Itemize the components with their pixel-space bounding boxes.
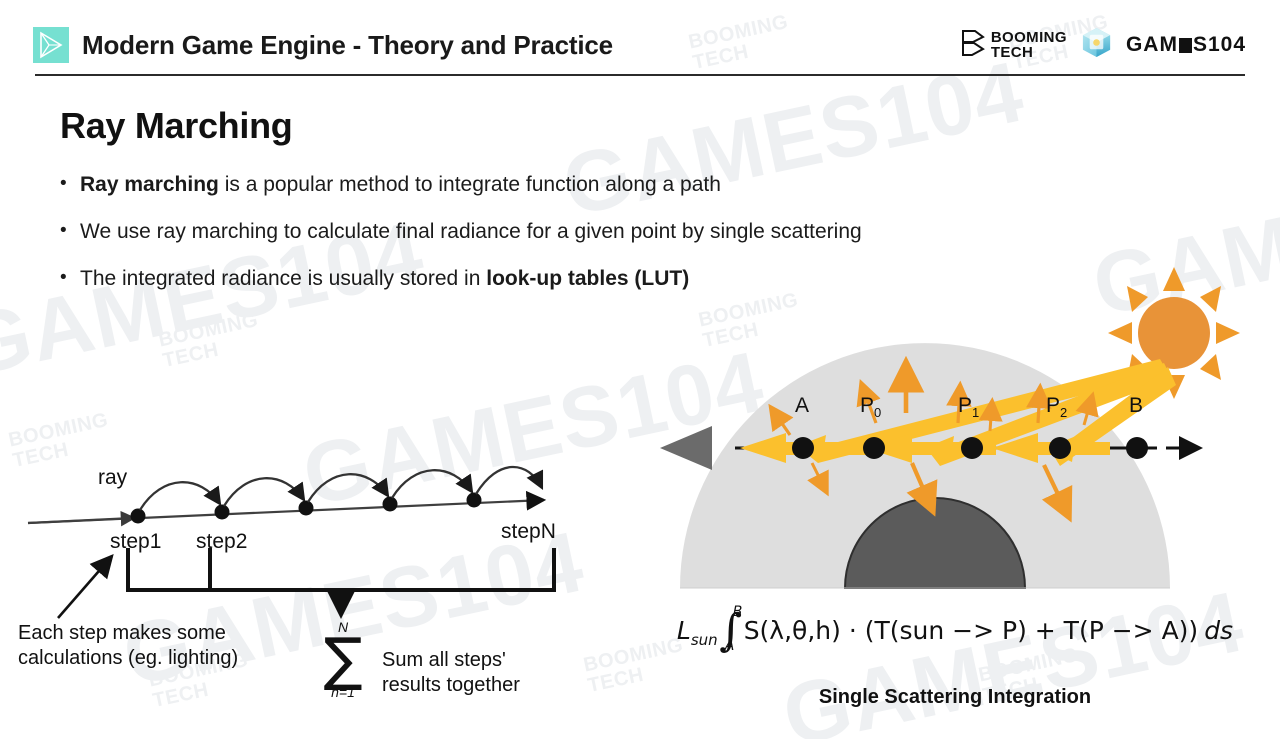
step-label-n: stepN xyxy=(501,520,556,544)
step-note: Each step makes some calculations (eg. l… xyxy=(18,621,238,672)
integral-upper: B xyxy=(733,604,743,620)
point-label-a: A xyxy=(795,394,809,418)
ray-marching-steps-diagram: ray step1 step2 stepN Each step makes so… xyxy=(14,378,624,708)
bullet-text: Ray marching is a popular method to inte… xyxy=(80,173,721,197)
booming-tech-wordmark: BOOMING TECH xyxy=(991,30,1067,60)
list-item: • We use ray marching to calculate final… xyxy=(60,220,1220,244)
slide-header: Modern Game Engine - Theory and Practice… xyxy=(0,0,1280,78)
point-label-b: B xyxy=(1129,394,1143,418)
bullet-text: We use ray marching to calculate final r… xyxy=(80,220,862,244)
brand-logos: BOOMING TECH xyxy=(961,27,1246,63)
slide-root: GAMES104 GAMES104 GAMES104 GAMES104 GAME… xyxy=(0,0,1280,739)
watermark-booming: BOOMING TECH xyxy=(157,310,265,372)
bullet-marker: • xyxy=(60,220,80,242)
page-title: Modern Game Engine - Theory and Practice xyxy=(82,30,613,61)
step-label-2: step2 xyxy=(196,530,247,554)
booming-b-icon xyxy=(961,29,986,62)
formula-ds: ds xyxy=(1204,616,1233,645)
formula-body: S(λ,θ,h) · (T(sun −> P) + T(P −> A)) xyxy=(744,616,1199,645)
games104-wordmark: GAMS104 xyxy=(1126,33,1246,57)
sum-note: Sum all steps' results together xyxy=(382,648,520,699)
point-label-p1: P1 xyxy=(958,394,979,420)
bullet-marker: • xyxy=(60,267,80,289)
section-heading: Ray Marching xyxy=(60,105,292,147)
bullet-emphasis: Ray marching xyxy=(80,173,219,196)
step-label-1: step1 xyxy=(110,530,161,554)
ray-label: ray xyxy=(98,466,127,490)
bullet-marker: • xyxy=(60,173,80,195)
list-item: • Ray marching is a popular method to in… xyxy=(60,173,1220,197)
games104-cube-icon xyxy=(1080,26,1113,64)
point-label-p0: P0 xyxy=(860,394,881,420)
summation-symbol: N ∑ n=1 xyxy=(317,620,369,700)
play-triangle-icon xyxy=(33,27,69,63)
booming-tech-logo: BOOMING TECH xyxy=(961,29,1067,62)
integral-lower: A xyxy=(725,638,735,654)
point-label-p2: P2 xyxy=(1046,394,1067,420)
games104-block-glyph xyxy=(1179,38,1192,53)
scattering-formula: Lsun ∫ B A S(λ,θ,h) · (T(sun −> P) + T(P… xyxy=(640,616,1270,651)
figure-caption: Single Scattering Integration xyxy=(640,686,1270,709)
bullet-text: The integrated radiance is usually store… xyxy=(80,267,689,291)
header-divider xyxy=(35,74,1245,76)
